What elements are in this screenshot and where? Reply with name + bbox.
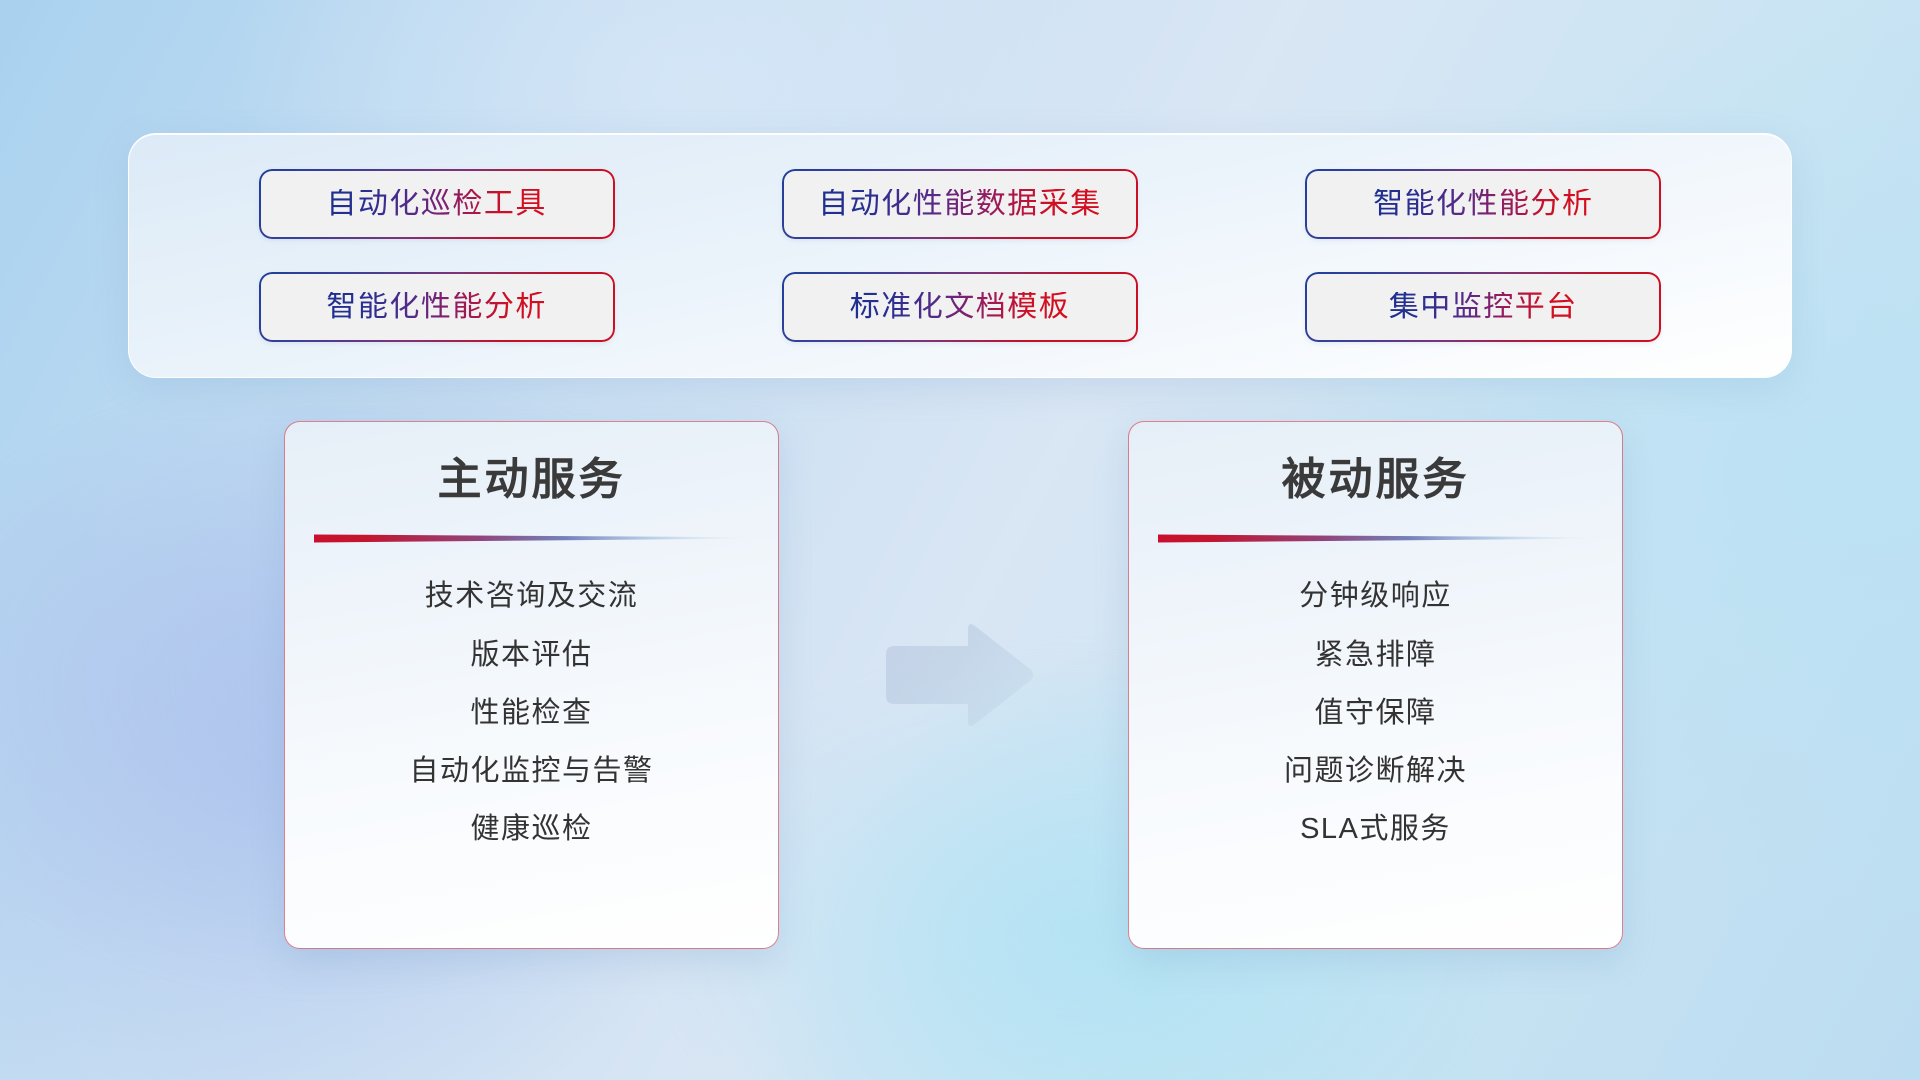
capability-pill[interactable]: 智能化性能分析 [1305, 169, 1661, 239]
service-item: 紧急排障 [1314, 637, 1436, 673]
capability-pill-label: 自动化性能数据采集 [818, 189, 1102, 219]
reactive-card-list: 分钟级响应 紧急排障 值守保障 问题诊断解决 SLA式服务 [1129, 578, 1622, 847]
capability-pill[interactable]: 智能化性能分析 [259, 272, 615, 342]
capability-pill-label: 自动化巡检工具 [326, 189, 547, 219]
service-item: SLA式服务 [1300, 811, 1451, 847]
capability-pill-label: 标准化文档模板 [850, 292, 1071, 322]
slide-canvas: 自动化巡检工具 自动化性能数据采集 智能化性能分析 智能化性能分析 标准化文档模… [0, 0, 1920, 1080]
proactive-card-title: 主动服务 [285, 456, 778, 504]
proactive-card-divider [314, 532, 750, 544]
capability-pill[interactable]: 自动化性能数据采集 [782, 169, 1138, 239]
capability-pill-label: 集中监控平台 [1389, 292, 1578, 322]
reactive-service-card: 被动服务 分钟级响应 紧急排障 值守保障 [1128, 421, 1623, 949]
capability-pill-label: 智能化性能分析 [1373, 189, 1594, 219]
capability-panel: 自动化巡检工具 自动化性能数据采集 智能化性能分析 智能化性能分析 标准化文档模… [128, 133, 1792, 378]
service-item: 性能检查 [470, 695, 592, 731]
capability-pill[interactable]: 标准化文档模板 [782, 272, 1138, 342]
service-item: 技术咨询及交流 [425, 578, 639, 614]
service-item: 值守保障 [1314, 695, 1436, 731]
arrow-right-icon [878, 620, 1038, 730]
service-item: 分钟级响应 [1299, 578, 1452, 614]
service-item: 问题诊断解决 [1284, 753, 1467, 789]
capability-pill[interactable]: 自动化巡检工具 [259, 169, 615, 239]
capability-pill-label: 智能化性能分析 [326, 292, 547, 322]
reactive-card-title: 被动服务 [1129, 456, 1622, 504]
service-item: 健康巡检 [470, 811, 592, 847]
service-item: 版本评估 [470, 637, 592, 673]
service-item: 自动化监控与告警 [409, 753, 653, 789]
capability-pill[interactable]: 集中监控平台 [1305, 272, 1661, 342]
reactive-card-divider [1158, 532, 1594, 544]
proactive-card-list: 技术咨询及交流 版本评估 性能检查 自动化监控与告警 健康巡检 [285, 578, 778, 847]
proactive-service-card: 主动服务 技术咨询及交流 版本评估 性能检查 [284, 421, 779, 949]
